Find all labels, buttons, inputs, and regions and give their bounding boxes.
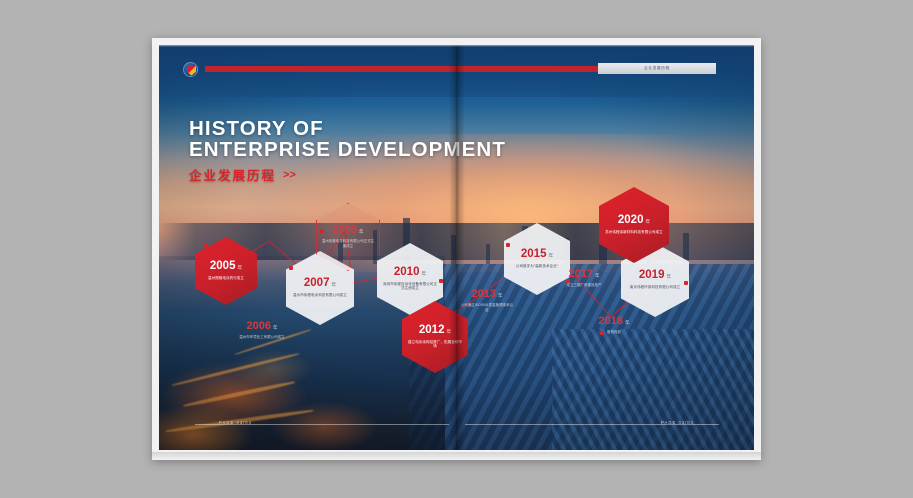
milestone-year-2009: 2009年	[333, 225, 364, 236]
milestone-desc-2012: 建立电泳涂网站推广，拓展全球市场	[407, 340, 463, 349]
milestone-desc-2007: 温州市伟程电泳科技有限公司成立	[293, 293, 347, 298]
page-number-right: PAGE 03/04	[661, 420, 694, 425]
milestone-year-2013: 2013年	[472, 289, 503, 300]
milestone-desc-2018: 股份改制	[607, 330, 621, 335]
milestone-desc-2020: 苏州伟程涂新材料科技有限公司成立	[605, 230, 663, 235]
timeline-node-2018	[600, 331, 604, 335]
milestone-year-2006: 2006年	[247, 321, 278, 332]
milestone-year-2020: 2020年	[618, 215, 650, 227]
milestone-year-2018: 2018年	[599, 316, 630, 327]
milestone-year-2015: 2015年	[521, 249, 553, 261]
milestone-year-2005: 2005年	[210, 261, 242, 273]
milestone-year-2019: 2019年	[639, 270, 671, 282]
brochure-spread: 企业发展历程 HISTORY OF ENTERPRISE DEVELOPMENT…	[159, 45, 754, 450]
timeline-connectors	[159, 45, 754, 450]
milestone-year-2007: 2007年	[304, 278, 336, 290]
milestone-year-2012: 2012年	[419, 325, 451, 337]
page-number-left: PAGE 03/04	[219, 420, 252, 425]
milestone-desc-2010: 深圳市伟程自动化设备有限公司正式注册成立	[382, 282, 438, 291]
screenshot-stage: 企业发展历程 HISTORY OF ENTERPRISE DEVELOPMENT…	[0, 0, 913, 498]
milestone-desc-2019: 南京伟程环保科技有限公司成立	[630, 285, 680, 290]
timeline-node-2010	[439, 279, 443, 283]
milestone-desc-2015: 公司被评为"高新技术企业"	[516, 264, 558, 269]
milestone-desc-2006: 温州市环境化工有限公司成立	[239, 335, 284, 340]
timeline-node-2007	[289, 266, 293, 270]
milestone-desc-2013: 公司通过ISO9001质量管理体系认证	[460, 303, 514, 312]
milestone-desc-2005: 温州照相电泳药行成立	[208, 276, 244, 281]
milestone-desc-2017: 成立三期厂房建设投产	[567, 283, 602, 288]
timeline-node-2005	[203, 243, 207, 247]
timeline-node-2009	[320, 229, 324, 233]
timeline-node-2019	[684, 281, 688, 285]
timeline-node-2015	[506, 243, 510, 247]
milestone-year-2010: 2010年	[394, 267, 426, 279]
milestone-desc-2009: 温州伟程电泳科技有限公司正式注册成立	[321, 239, 375, 248]
milestone-year-2017: 2017年	[569, 269, 600, 280]
